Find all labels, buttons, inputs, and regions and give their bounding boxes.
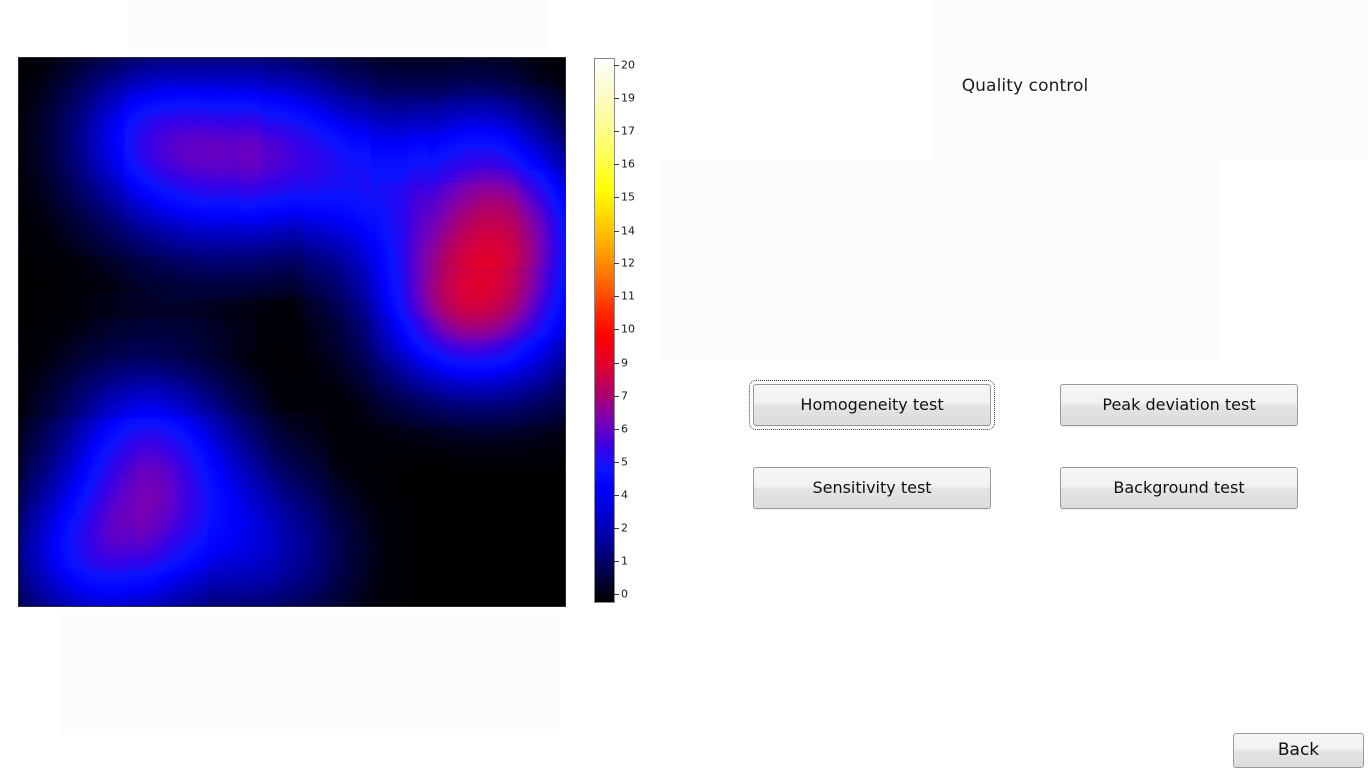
colorbar-tick-mark xyxy=(614,329,619,330)
colorbar-tick-label: 17 xyxy=(621,125,635,136)
colorbar-tick-label: 6 xyxy=(621,423,628,434)
colorbar-tick-label: 7 xyxy=(621,390,628,401)
colorbar-gradient xyxy=(595,59,614,602)
background-wash xyxy=(128,0,548,50)
colorbar-tick-mark xyxy=(614,561,619,562)
colorbar-tick-label: 2 xyxy=(621,523,628,534)
application-window: 20191716151412111097654210 Quality contr… xyxy=(0,0,1368,768)
colorbar-tick-mark xyxy=(614,396,619,397)
colorbar-tick-label: 1 xyxy=(621,556,628,567)
colorbar-tick-mark xyxy=(614,164,619,165)
intensity-colorbar: 20191716151412111097654210 xyxy=(594,58,615,603)
colorbar-tick-mark xyxy=(614,528,619,529)
colorbar-tick-label: 10 xyxy=(621,324,635,335)
colorbar-tick-mark xyxy=(614,131,619,132)
colorbar-tick-mark xyxy=(614,263,619,264)
colorbar-tick-mark xyxy=(614,495,619,496)
colorbar-tick-label: 11 xyxy=(621,291,635,302)
colorbar-tick-label: 5 xyxy=(621,456,628,467)
background-wash xyxy=(660,160,1220,360)
colorbar-tick-label: 14 xyxy=(621,225,635,236)
sensitivity-test-button[interactable]: Sensitivity test xyxy=(753,467,991,509)
background-test-button[interactable]: Background test xyxy=(1060,467,1298,509)
colorbar-tick-mark xyxy=(614,296,619,297)
colorbar-tick-mark xyxy=(614,65,619,66)
colorbar-tick-label: 0 xyxy=(621,589,628,600)
colorbar-tick-label: 9 xyxy=(621,357,628,368)
colorbar-tick-label: 19 xyxy=(621,93,635,104)
page-title: Quality control xyxy=(930,76,1120,96)
colorbar-tick-mark xyxy=(614,197,619,198)
peak-deviation-test-button[interactable]: Peak deviation test xyxy=(1060,384,1298,426)
colorbar-tick-mark xyxy=(614,594,619,595)
colorbar-tick-label: 12 xyxy=(621,258,635,269)
background-wash xyxy=(60,614,560,734)
colorbar-tick-mark xyxy=(614,429,619,430)
homogeneity-test-button[interactable]: Homogeneity test xyxy=(753,384,991,426)
colorbar-tick-label: 15 xyxy=(621,192,635,203)
colorbar-tick-mark xyxy=(614,462,619,463)
colorbar-tick-label: 20 xyxy=(621,59,635,70)
back-button[interactable]: Back xyxy=(1233,733,1364,768)
colorbar-tick-label: 4 xyxy=(621,490,628,501)
quality-control-heatmap xyxy=(18,57,566,607)
colorbar-tick-mark xyxy=(614,363,619,364)
heatmap-canvas xyxy=(19,58,565,606)
colorbar-tick-mark xyxy=(614,231,619,232)
colorbar-tick-mark xyxy=(614,98,619,99)
colorbar-tick-label: 16 xyxy=(621,158,635,169)
